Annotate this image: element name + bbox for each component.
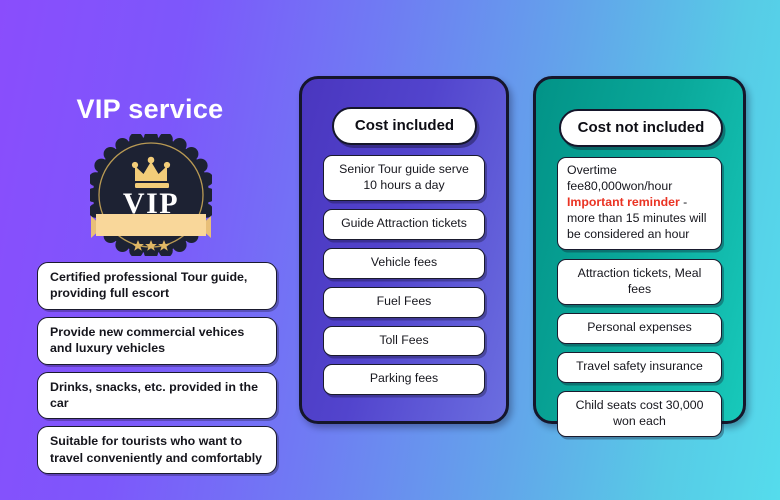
- vip-badge: VIP: [90, 134, 212, 256]
- page-title: VIP service: [0, 94, 300, 125]
- list-item: Personal expenses: [557, 313, 722, 344]
- list-item: Attraction tickets, Meal fees: [557, 259, 722, 305]
- left-column: VIP service: [0, 0, 300, 500]
- list-item: Child seats cost 30,000 won each: [557, 391, 722, 437]
- overtime-fee-note: Overtime fee80,000won/hour Important rem…: [557, 157, 722, 250]
- cost-included-panel: Cost included Senior Tour guide serve 10…: [299, 76, 509, 424]
- overtime-fee-line: Overtime fee80,000won/hour: [567, 163, 713, 195]
- list-item: Travel safety insurance: [557, 352, 722, 383]
- list-item: Provide new commercial vehices and luxur…: [37, 317, 277, 365]
- cost-included-item-list: Senior Tour guide serve 10 hours a day G…: [323, 155, 485, 403]
- list-item: Toll Fees: [323, 326, 485, 357]
- list-item: Drinks, snacks, etc. provided in the car: [37, 372, 277, 420]
- list-item: Suitable for tourists who want to travel…: [37, 426, 277, 474]
- cost-included-heading: Cost included: [332, 107, 477, 145]
- list-item: Fuel Fees: [323, 287, 485, 318]
- list-item: Parking fees: [323, 364, 485, 395]
- list-item: Certified professional Tour guide, provi…: [37, 262, 277, 310]
- ribbon-banner: [91, 214, 211, 238]
- list-item: Senior Tour guide serve 10 hours a day: [323, 155, 485, 201]
- list-item: Vehicle fees: [323, 248, 485, 279]
- cost-not-included-panel: Cost not included Overtime fee80,000won/…: [533, 76, 746, 424]
- cost-not-included-heading: Cost not included: [559, 109, 723, 147]
- feature-list: Certified professional Tour guide, provi…: [37, 262, 277, 481]
- important-reminder-label: Important reminder: [567, 195, 680, 209]
- cost-not-included-item-list: Overtime fee80,000won/hour Important rem…: [557, 157, 722, 445]
- list-item: Guide Attraction tickets: [323, 209, 485, 240]
